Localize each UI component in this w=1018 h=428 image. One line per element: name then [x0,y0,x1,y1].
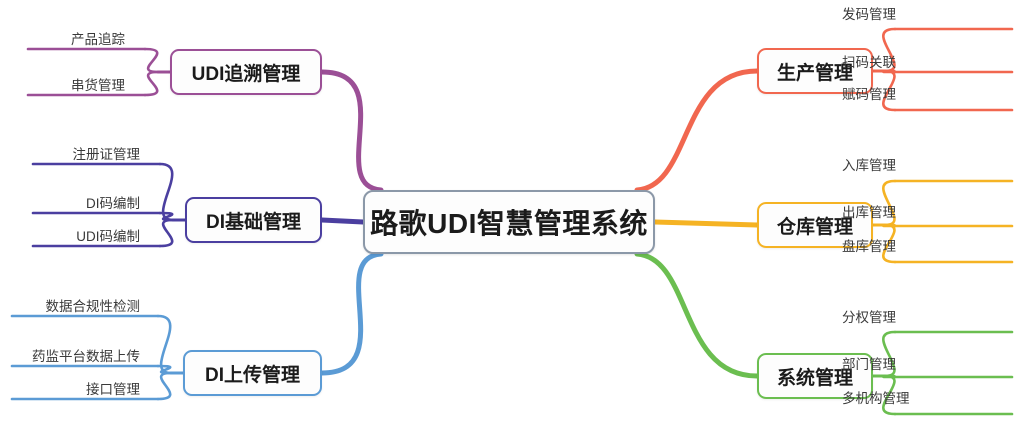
leaf-label-di-upload-2[interactable]: 接口管理 [86,383,140,397]
leaf-connector-warehouse-1 [883,225,895,226]
leaf-label-production-2[interactable]: 赋码管理 [842,88,942,102]
trunk-connector-system [637,254,757,376]
leaf-connector-system-1 [883,376,895,377]
branch-node-di-base[interactable]: DI基础管理 [185,197,322,243]
center-node-label: 路歌UDI智慧管理系统 [370,202,648,242]
leaf-label-production-0[interactable]: 发码管理 [842,8,942,22]
leaf-label-di-base-2[interactable]: UDI码编制 [76,230,140,244]
branch-node-label: DI上传管理 [205,360,300,387]
leaf-label-di-base-0[interactable]: 注册证管理 [73,148,141,162]
leaf-label-di-upload-1[interactable]: 药监平台数据上传 [32,350,140,364]
trunk-connector-warehouse [655,222,757,225]
trunk-connector-di-upload [322,254,381,373]
branch-node-udi-trace[interactable]: UDI追溯管理 [170,49,322,95]
leaf-connector-udi-trace-1 [145,72,158,95]
leaf-label-system-1[interactable]: 部门管理 [842,358,942,372]
leaf-connector-di-upload-2 [158,373,171,399]
leaf-label-warehouse-0[interactable]: 入库管理 [842,159,942,173]
branch-node-label: UDI追溯管理 [192,59,301,86]
leaf-connector-udi-trace-0 [145,49,158,72]
leaf-connector-di-base-2 [160,220,173,246]
leaf-connector-di-base-0 [160,164,173,220]
leaf-label-di-base-1[interactable]: DI码编制 [86,197,140,211]
leaf-label-system-0[interactable]: 分权管理 [842,311,942,325]
trunk-connector-di-base [322,220,363,222]
branch-node-label: DI基础管理 [206,207,301,234]
leaf-connector-di-upload-1 [158,366,171,373]
leaf-label-di-upload-0[interactable]: 数据合规性检测 [46,300,141,314]
leaf-connector-di-base-1 [160,213,173,220]
leaf-label-warehouse-1[interactable]: 出库管理 [842,206,942,220]
leaf-connector-di-upload-0 [158,316,171,373]
leaf-label-udi-trace-1[interactable]: 串货管理 [71,79,125,93]
leaf-label-system-2[interactable]: 多机构管理 [842,392,942,406]
center-node[interactable]: 路歌UDI智慧管理系统 [363,190,655,254]
leaf-label-production-1[interactable]: 扫码关联 [842,56,942,70]
leaf-label-warehouse-2[interactable]: 盘库管理 [842,240,942,254]
leaf-connector-production-1 [883,71,895,72]
mindmap-canvas: 路歌UDI智慧管理系统UDI追溯管理产品追踪串货管理DI基础管理注册证管理DI码… [0,0,1018,428]
branch-node-di-upload[interactable]: DI上传管理 [183,350,322,396]
trunk-connector-production [637,71,757,190]
trunk-connector-udi-trace [322,72,381,190]
leaf-label-udi-trace-0[interactable]: 产品追踪 [71,33,125,47]
